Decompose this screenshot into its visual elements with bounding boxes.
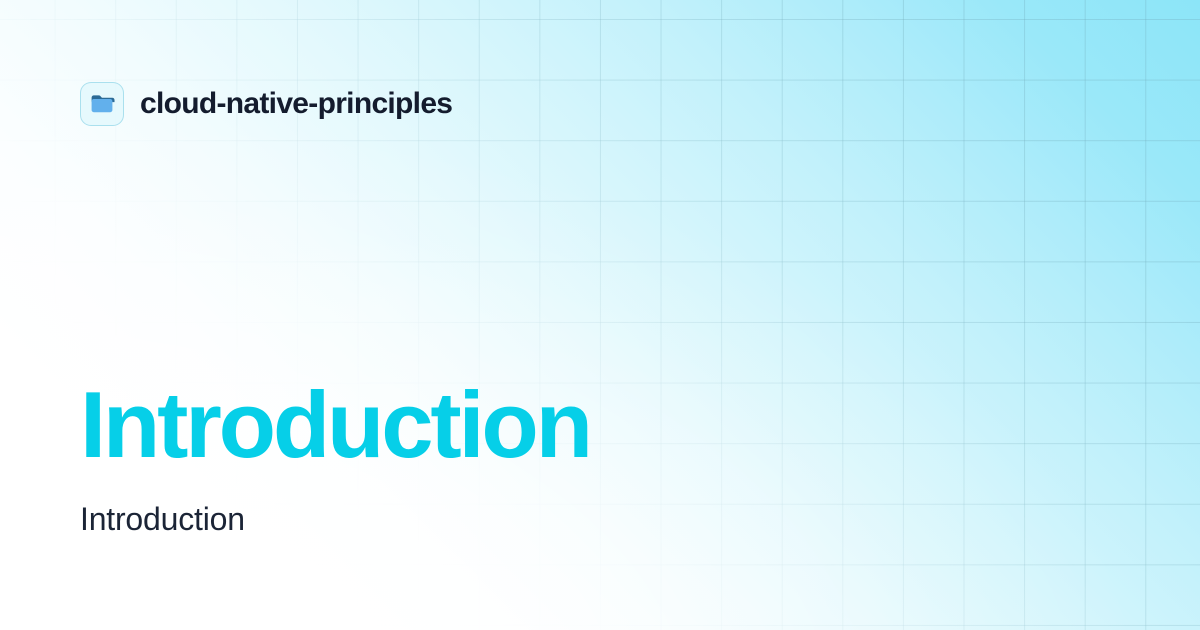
og-card: cloud-native-principles Introduction Int… [0,0,1200,630]
repo-name: cloud-native-principles [140,89,452,119]
title-block: Introduction Introduction [80,378,590,538]
folder-icon [89,91,115,117]
repo-header: cloud-native-principles [80,82,452,126]
card-content: cloud-native-principles Introduction Int… [0,0,1200,630]
repo-icon-badge [80,82,124,126]
page-title: Introduction [80,378,590,472]
page-subtitle: Introduction [80,500,590,538]
